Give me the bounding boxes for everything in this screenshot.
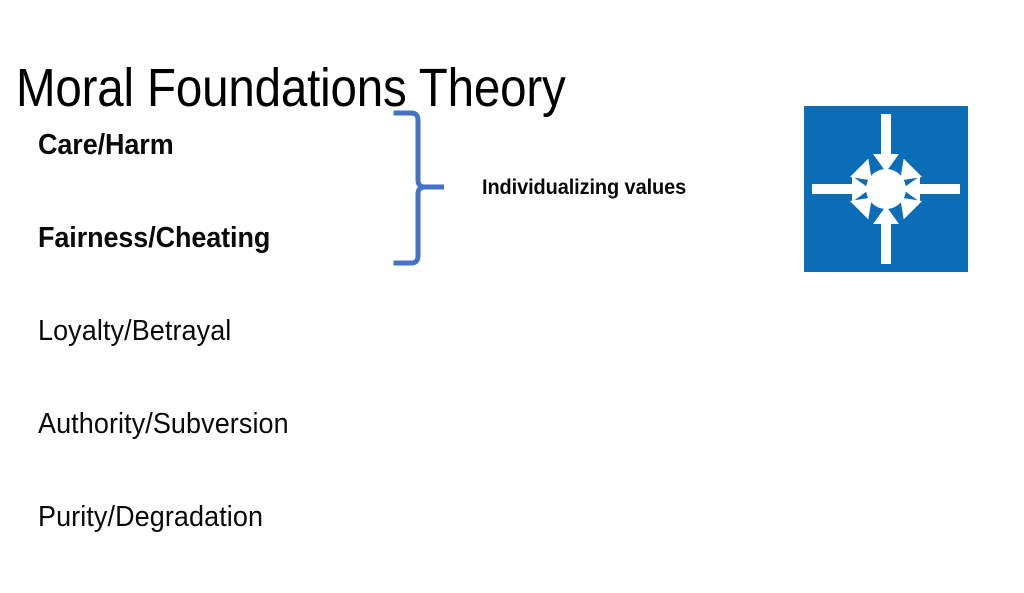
slide-canvas: Moral Foundations Theory Care/Harm Fairn… <box>0 0 1024 576</box>
grouping-brace <box>392 106 450 270</box>
list-item: Purity/Degradation <box>38 500 373 593</box>
list-item: Loyalty/Betrayal <box>38 314 373 407</box>
list-item: Care/Harm <box>38 128 373 221</box>
brace-label: Individualizing values <box>482 174 686 202</box>
foundations-list: Care/Harm Fairness/Cheating Loyalty/Betr… <box>38 128 398 593</box>
center-circle-icon <box>866 169 906 209</box>
list-item: Authority/Subversion <box>38 407 373 500</box>
page-title: Moral Foundations Theory <box>16 56 720 120</box>
converging-arrows-graphic <box>804 106 968 272</box>
list-item: Fairness/Cheating <box>38 221 373 314</box>
brace-icon <box>392 106 450 270</box>
converging-arrows-icon <box>804 106 968 272</box>
